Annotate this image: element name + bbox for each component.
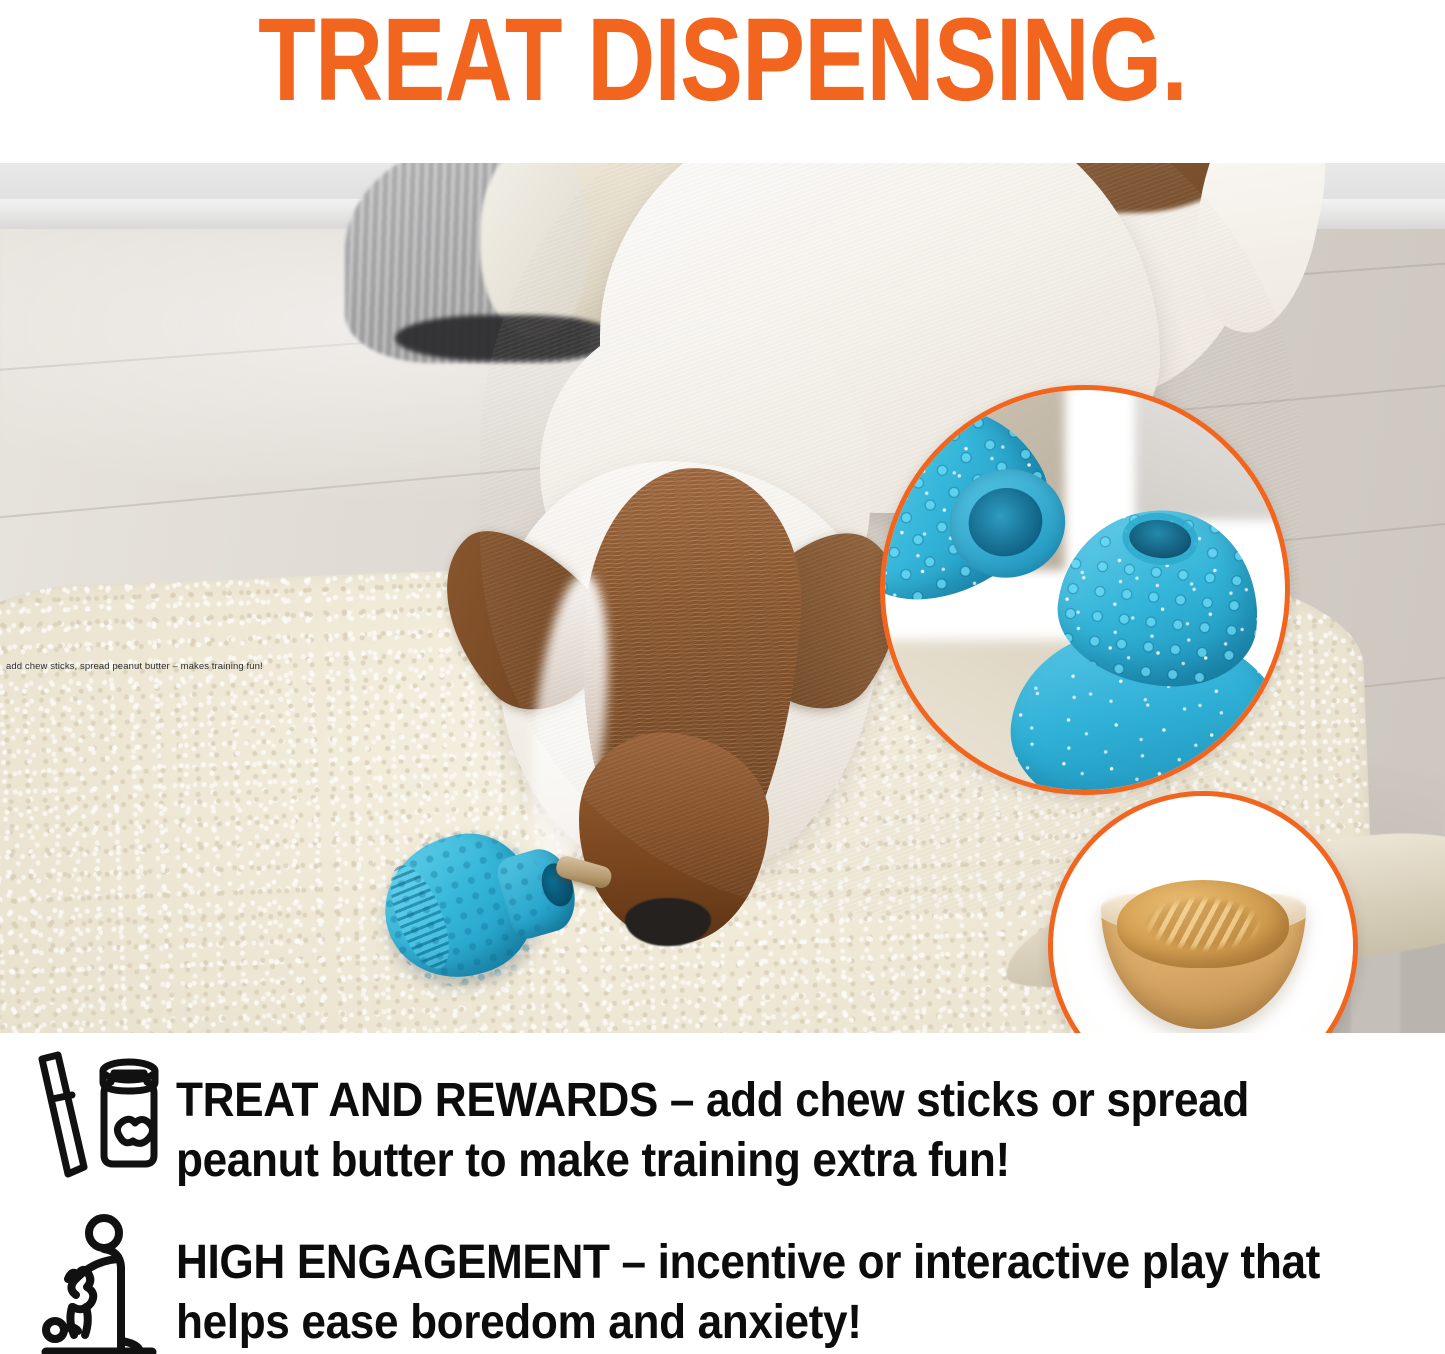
feature-list: TREAT AND REWARDS – add chew sticks or s… [0, 1033, 1445, 1354]
feature-high-engagement: HIGH ENGAGEMENT – incentive or interacti… [24, 1211, 1424, 1354]
chew-stick-and-peanut-butter-jar-icon [24, 1049, 176, 1199]
feature-treat-and-rewards: TREAT AND REWARDS – add chew sticks or s… [24, 1049, 1424, 1199]
feature-2-headline: HIGH ENGAGEMENT [176, 1236, 610, 1289]
feature-1-headline: TREAT AND REWARDS [176, 1074, 658, 1127]
product-feature-page: TREAT DISPENSING. [0, 0, 1445, 1354]
lifestyle-photo: add chew sticks, spread peanut butter – … [0, 163, 1445, 1033]
inset-product-closeup [880, 385, 1290, 795]
feature-1-text: TREAT AND REWARDS – add chew sticks or s… [176, 1049, 1324, 1191]
person-with-dog-icon [24, 1211, 176, 1354]
product-toy-nubbed [1019, 498, 1290, 795]
peanut-butter-bowl [1101, 864, 1306, 1029]
feature-1-dash: – [658, 1074, 706, 1127]
headline-band: TREAT DISPENSING. [0, 0, 1445, 163]
peanut-butter-swirl [1127, 888, 1279, 960]
feature-2-dash: – [610, 1236, 658, 1289]
scene-caption: add chew sticks, spread peanut butter – … [6, 661, 263, 673]
feature-2-text: HIGH ENGAGEMENT – incentive or interacti… [176, 1211, 1324, 1353]
page-title: TREAT DISPENSING. [145, 0, 1301, 122]
